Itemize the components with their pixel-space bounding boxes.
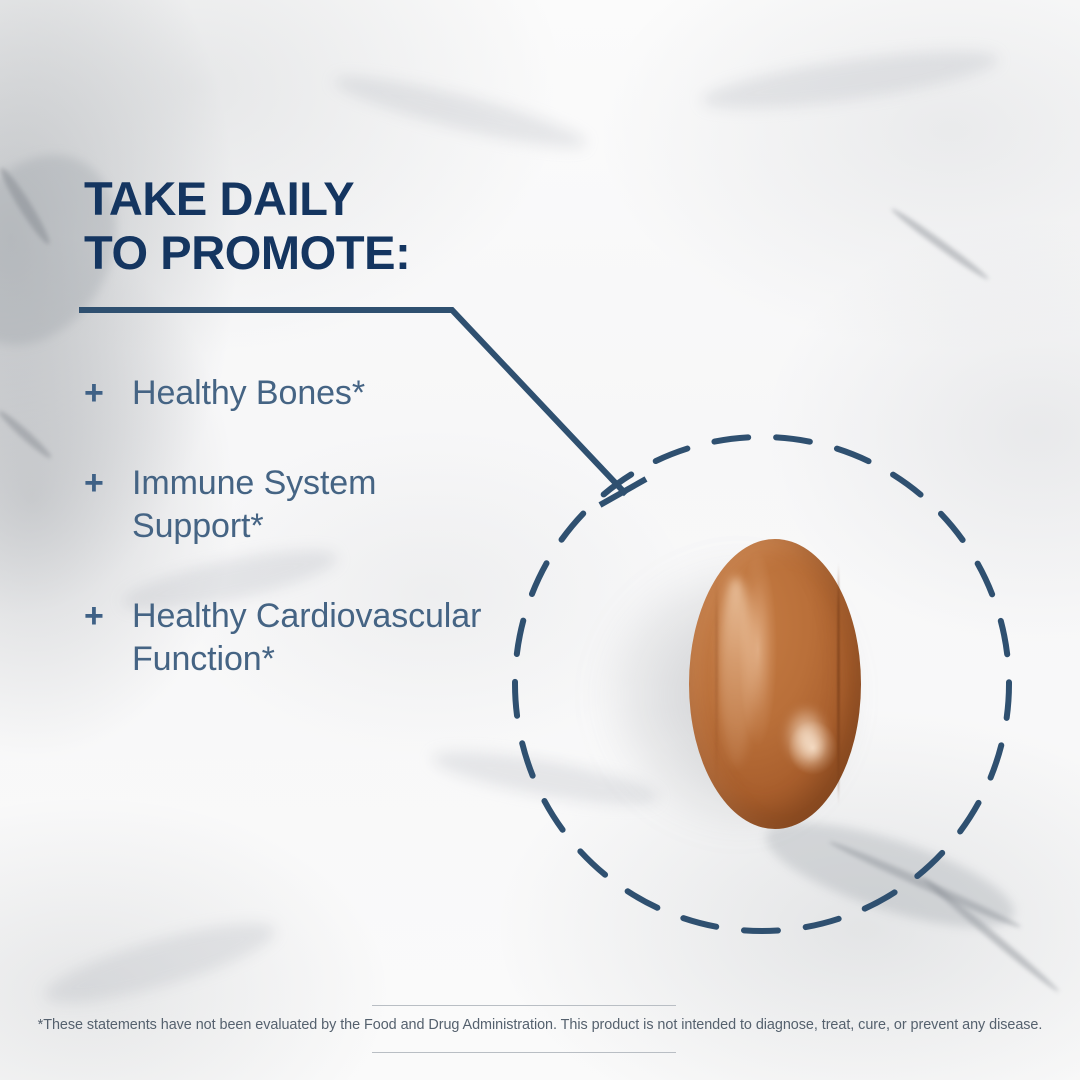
divider-top	[372, 1005, 676, 1006]
headline-line-1: Take Daily	[84, 172, 354, 225]
benefits-list: + Healthy Bones* + Immune System Support…	[84, 372, 504, 682]
divider-bottom	[372, 1052, 676, 1053]
promo-graphic: Take Daily To Promote: + Healthy Bones* …	[0, 0, 1080, 1080]
capsule-seam	[837, 562, 840, 806]
page-title: Take Daily To Promote:	[84, 172, 544, 279]
headline-line-2: To Promote:	[84, 226, 544, 280]
benefit-label: Healthy Bones*	[132, 372, 365, 416]
list-item: + Healthy Cardiovascular Function*	[84, 595, 504, 682]
plus-icon: +	[84, 462, 132, 506]
list-item: + Immune System Support*	[84, 462, 504, 549]
benefit-label: Immune System Support*	[132, 462, 504, 549]
list-item: + Healthy Bones*	[84, 372, 504, 416]
plus-icon: +	[84, 595, 132, 639]
softgel-capsule-image	[689, 539, 861, 829]
capsule-seam-left	[715, 574, 718, 789]
benefit-label: Healthy Cardiovascular Function*	[132, 595, 504, 682]
plus-icon: +	[84, 372, 132, 416]
legal-disclaimer: *These statements have not been evaluate…	[0, 1017, 1080, 1034]
capsule-highlight	[719, 577, 753, 767]
capsule-specular-highlight	[785, 707, 827, 765]
